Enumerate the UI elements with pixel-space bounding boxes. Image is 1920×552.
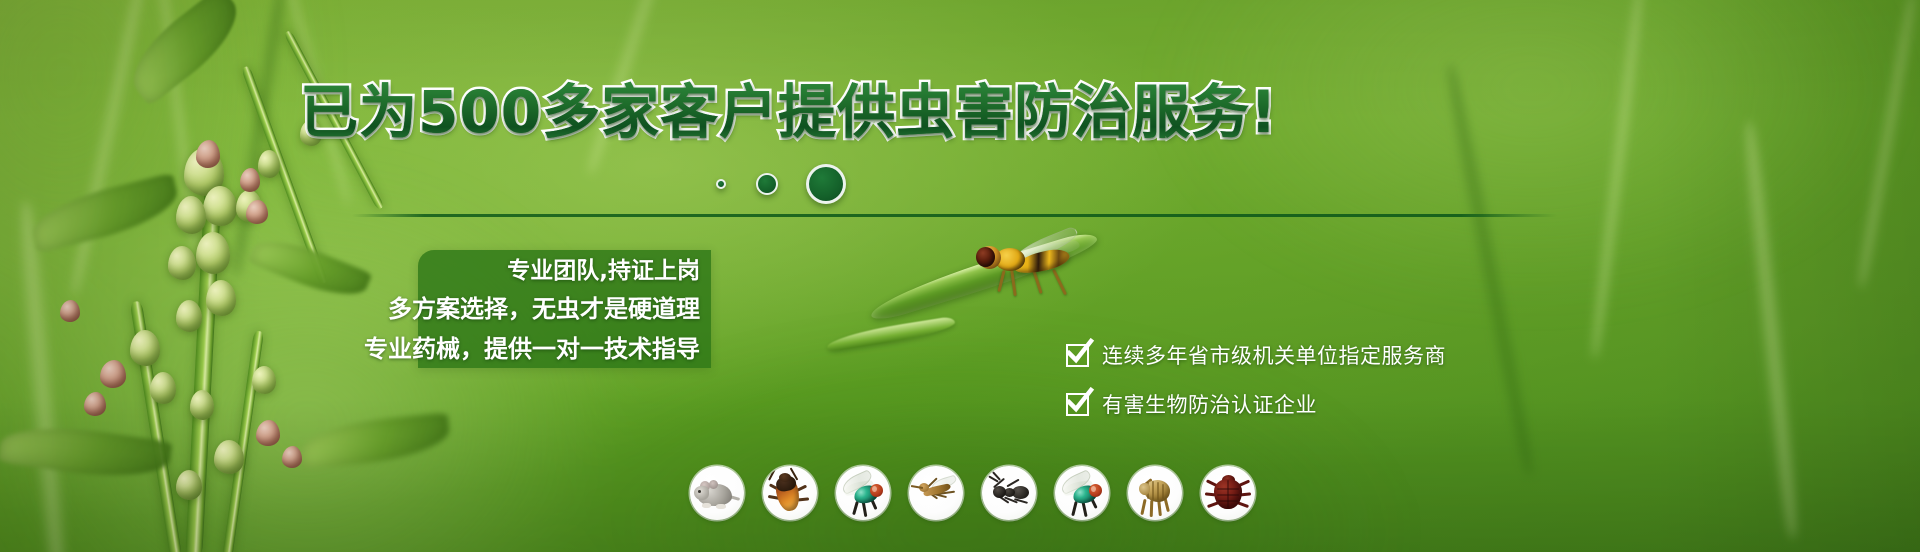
pest-icon-row [690, 466, 1255, 520]
selling-points-text: 专业团队,持证上岗 多方案选择，无虫才是硬道理 专业药械，提供一对一技术指导 [330, 254, 726, 366]
fly-green-icon[interactable] [1055, 466, 1109, 520]
bedbug-icon[interactable] [1201, 466, 1255, 520]
fly-icon[interactable] [836, 466, 890, 520]
pest-control-hero-banner: 已为500多家客户提供虫害防治服务! 已为500多家客户提供虫害防治服务! 专业… [0, 0, 1920, 552]
page-title-outline: 已为500多家客户提供虫害防治服务! [300, 78, 1280, 146]
decor-dot-small-icon [716, 179, 726, 189]
selling-point-line-3: 专业药械，提供一对一技术指导 [364, 337, 700, 362]
checklist-item: 连续多年省市级机关单位指定服务商 [1066, 340, 1446, 370]
flea-icon[interactable] [1128, 466, 1182, 520]
cockroach-icon[interactable] [763, 466, 817, 520]
fly-eye [976, 247, 995, 267]
checklist-item-label: 有害生物防治认证企业 [1102, 389, 1317, 419]
decor-dot-large-icon [806, 164, 846, 204]
fly-leg [1052, 269, 1067, 295]
selling-point-line-2: 多方案选择，无虫才是硬道理 [388, 297, 700, 322]
checklist-item-label: 连续多年省市级机关单位指定服务商 [1102, 340, 1446, 370]
decor-dot-group [716, 160, 1016, 210]
mosquito-icon[interactable] [909, 466, 963, 520]
checklist-item: 有害生物防治认证企业 [1066, 389, 1317, 419]
checkbox-checked-icon [1066, 344, 1089, 367]
mouse-icon[interactable] [690, 466, 744, 520]
ant-icon[interactable] [982, 466, 1036, 520]
selling-point-line-1: 专业团队,持证上岗 [507, 259, 700, 283]
divider [352, 214, 1557, 217]
decor-dot-medium-icon [756, 173, 778, 195]
fly-leg [1032, 270, 1042, 294]
checkbox-checked-icon [1066, 393, 1089, 416]
